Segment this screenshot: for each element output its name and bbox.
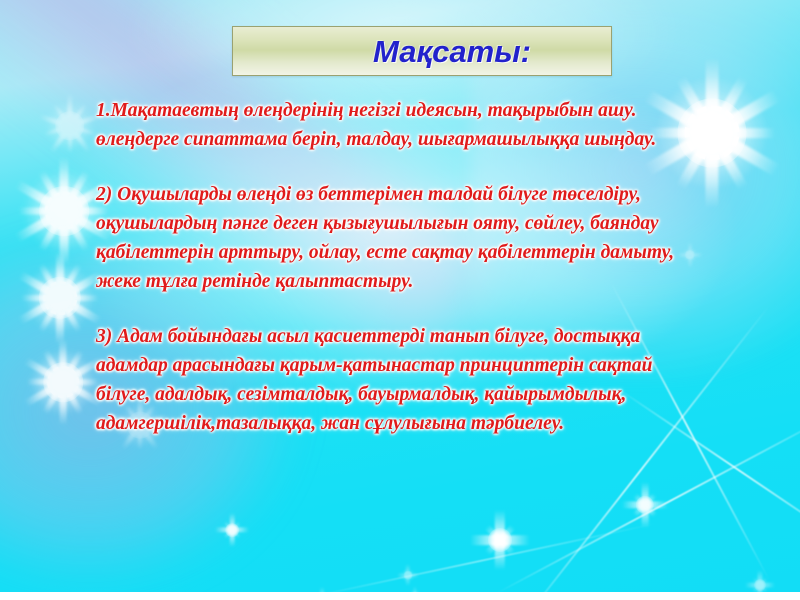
objective-paragraph-3: 3) Адам бойындағы асыл қасиеттерді танып…	[96, 322, 696, 438]
body-text-block: 1.Мақатаевтың өлеңдерінің негізгі идеясы…	[96, 96, 696, 438]
objective-paragraph-2: 2) Оқушыларды өлеңді өз беттерімен талда…	[96, 180, 696, 296]
objective-paragraph-1: 1.Мақатаевтың өлеңдерінің негізгі идеясы…	[96, 96, 696, 154]
bottom-white-strip	[0, 592, 800, 600]
slide-canvas: Мақсаты: 1.Мақатаевтың өлеңдерінің негіз…	[0, 0, 800, 600]
page-title: Мақсаты:	[313, 36, 531, 67]
title-banner: Мақсаты:	[232, 26, 612, 76]
